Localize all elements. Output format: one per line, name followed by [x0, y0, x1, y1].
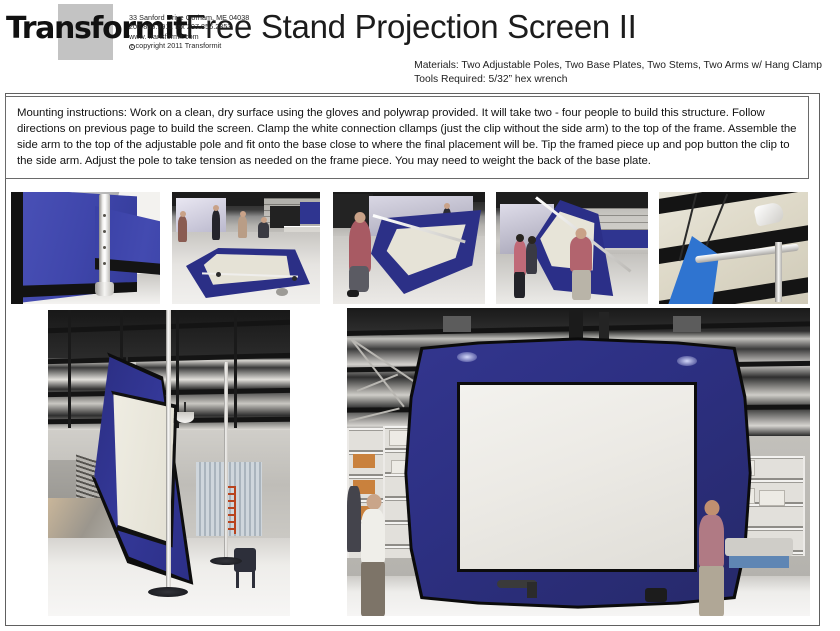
photo-large-completed-screen	[347, 308, 810, 616]
photo-thumbnail-attaching-arm	[333, 192, 485, 304]
photo-illustration	[11, 192, 160, 304]
photo-thumbnail-pole-clamp	[11, 192, 160, 304]
photo-illustration	[48, 310, 290, 616]
materials-line: Materials: Two Adjustable Poles, Two Bas…	[414, 59, 822, 73]
spec-list: Materials: Two Adjustable Poles, Two Bas…	[414, 59, 822, 86]
photo-thumbnail-raising-frame	[496, 192, 648, 304]
photo-large-free-standing-panel	[48, 310, 290, 616]
photo-thumbnail-frame-on-floor	[172, 192, 320, 304]
thumbnail-row	[0, 192, 820, 304]
page-title: Free Stand Projection Screen II	[0, 8, 822, 46]
photo-illustration	[172, 192, 320, 304]
tools-line: Tools Required: 5/32” hex wrench	[414, 73, 822, 87]
photo-thumbnail-clamp-detail	[659, 192, 808, 304]
photo-illustration	[333, 192, 485, 304]
person-figure	[699, 500, 725, 616]
instructions-panel: Mounting instructions: Work on a clean, …	[5, 96, 809, 179]
photo-illustration	[496, 192, 648, 304]
photo-illustration	[347, 308, 810, 616]
photo-illustration	[659, 192, 808, 304]
person-figure	[361, 494, 387, 616]
page-header: Transformit 33 Sanford Drive Gorham, ME …	[0, 0, 840, 93]
